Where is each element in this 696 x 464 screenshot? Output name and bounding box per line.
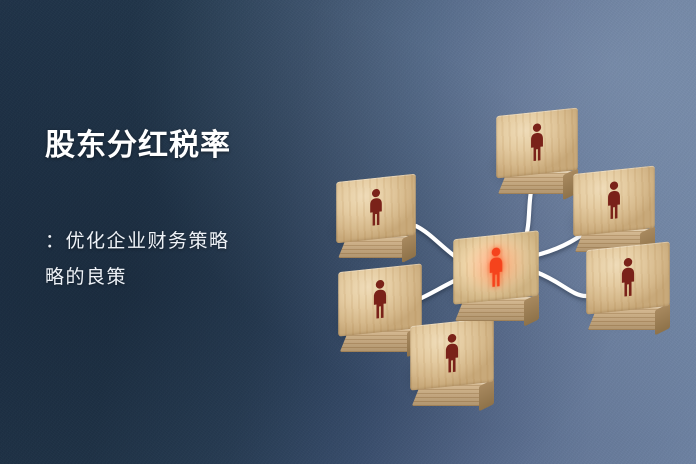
- block-node-top-center[interactable]: [496, 112, 578, 194]
- block-node-mid-right[interactable]: [586, 246, 670, 330]
- block-node-bottom-center[interactable]: [410, 322, 494, 406]
- person-icon: [600, 180, 628, 222]
- block-top-face: [410, 317, 494, 390]
- text-content: 股东分红税率 ：优化企业财务策略 略的良策: [45, 126, 300, 296]
- wooden-block-network-graphic: [320, 100, 696, 440]
- block-node-top-right[interactable]: [573, 170, 655, 252]
- block-top-face: [453, 230, 539, 305]
- subtitle-line-2: 略的良策: [45, 267, 127, 288]
- person-icon: [362, 187, 389, 228]
- person-icon: [614, 256, 642, 299]
- cord-center-to-mid-right: [536, 272, 586, 296]
- person-icon: [438, 332, 466, 375]
- person-icon: [523, 122, 551, 164]
- page-subtitle: ：优化企业财务策略 略的良策: [45, 166, 300, 296]
- block-node-mid-left[interactable]: [336, 178, 416, 258]
- block-top-face: [573, 166, 655, 237]
- graphic-description: 七个木块用白色连线组成的网络图，中心木块上的人形图标发红光: [0, 0, 1, 1]
- slide-canvas: 股东分红税率 ：优化企业财务策略 略的良策: [0, 0, 696, 464]
- block-top-face: [336, 174, 416, 243]
- person-icon-highlighted: [481, 245, 510, 289]
- block-top-face: [586, 241, 670, 314]
- block-top-face: [496, 108, 578, 179]
- page-title: 股东分红税率: [45, 126, 300, 166]
- person-icon: [366, 278, 394, 321]
- block-node-center[interactable]: [453, 235, 539, 321]
- subtitle-line-1: ：优化企业财务策略: [45, 231, 230, 252]
